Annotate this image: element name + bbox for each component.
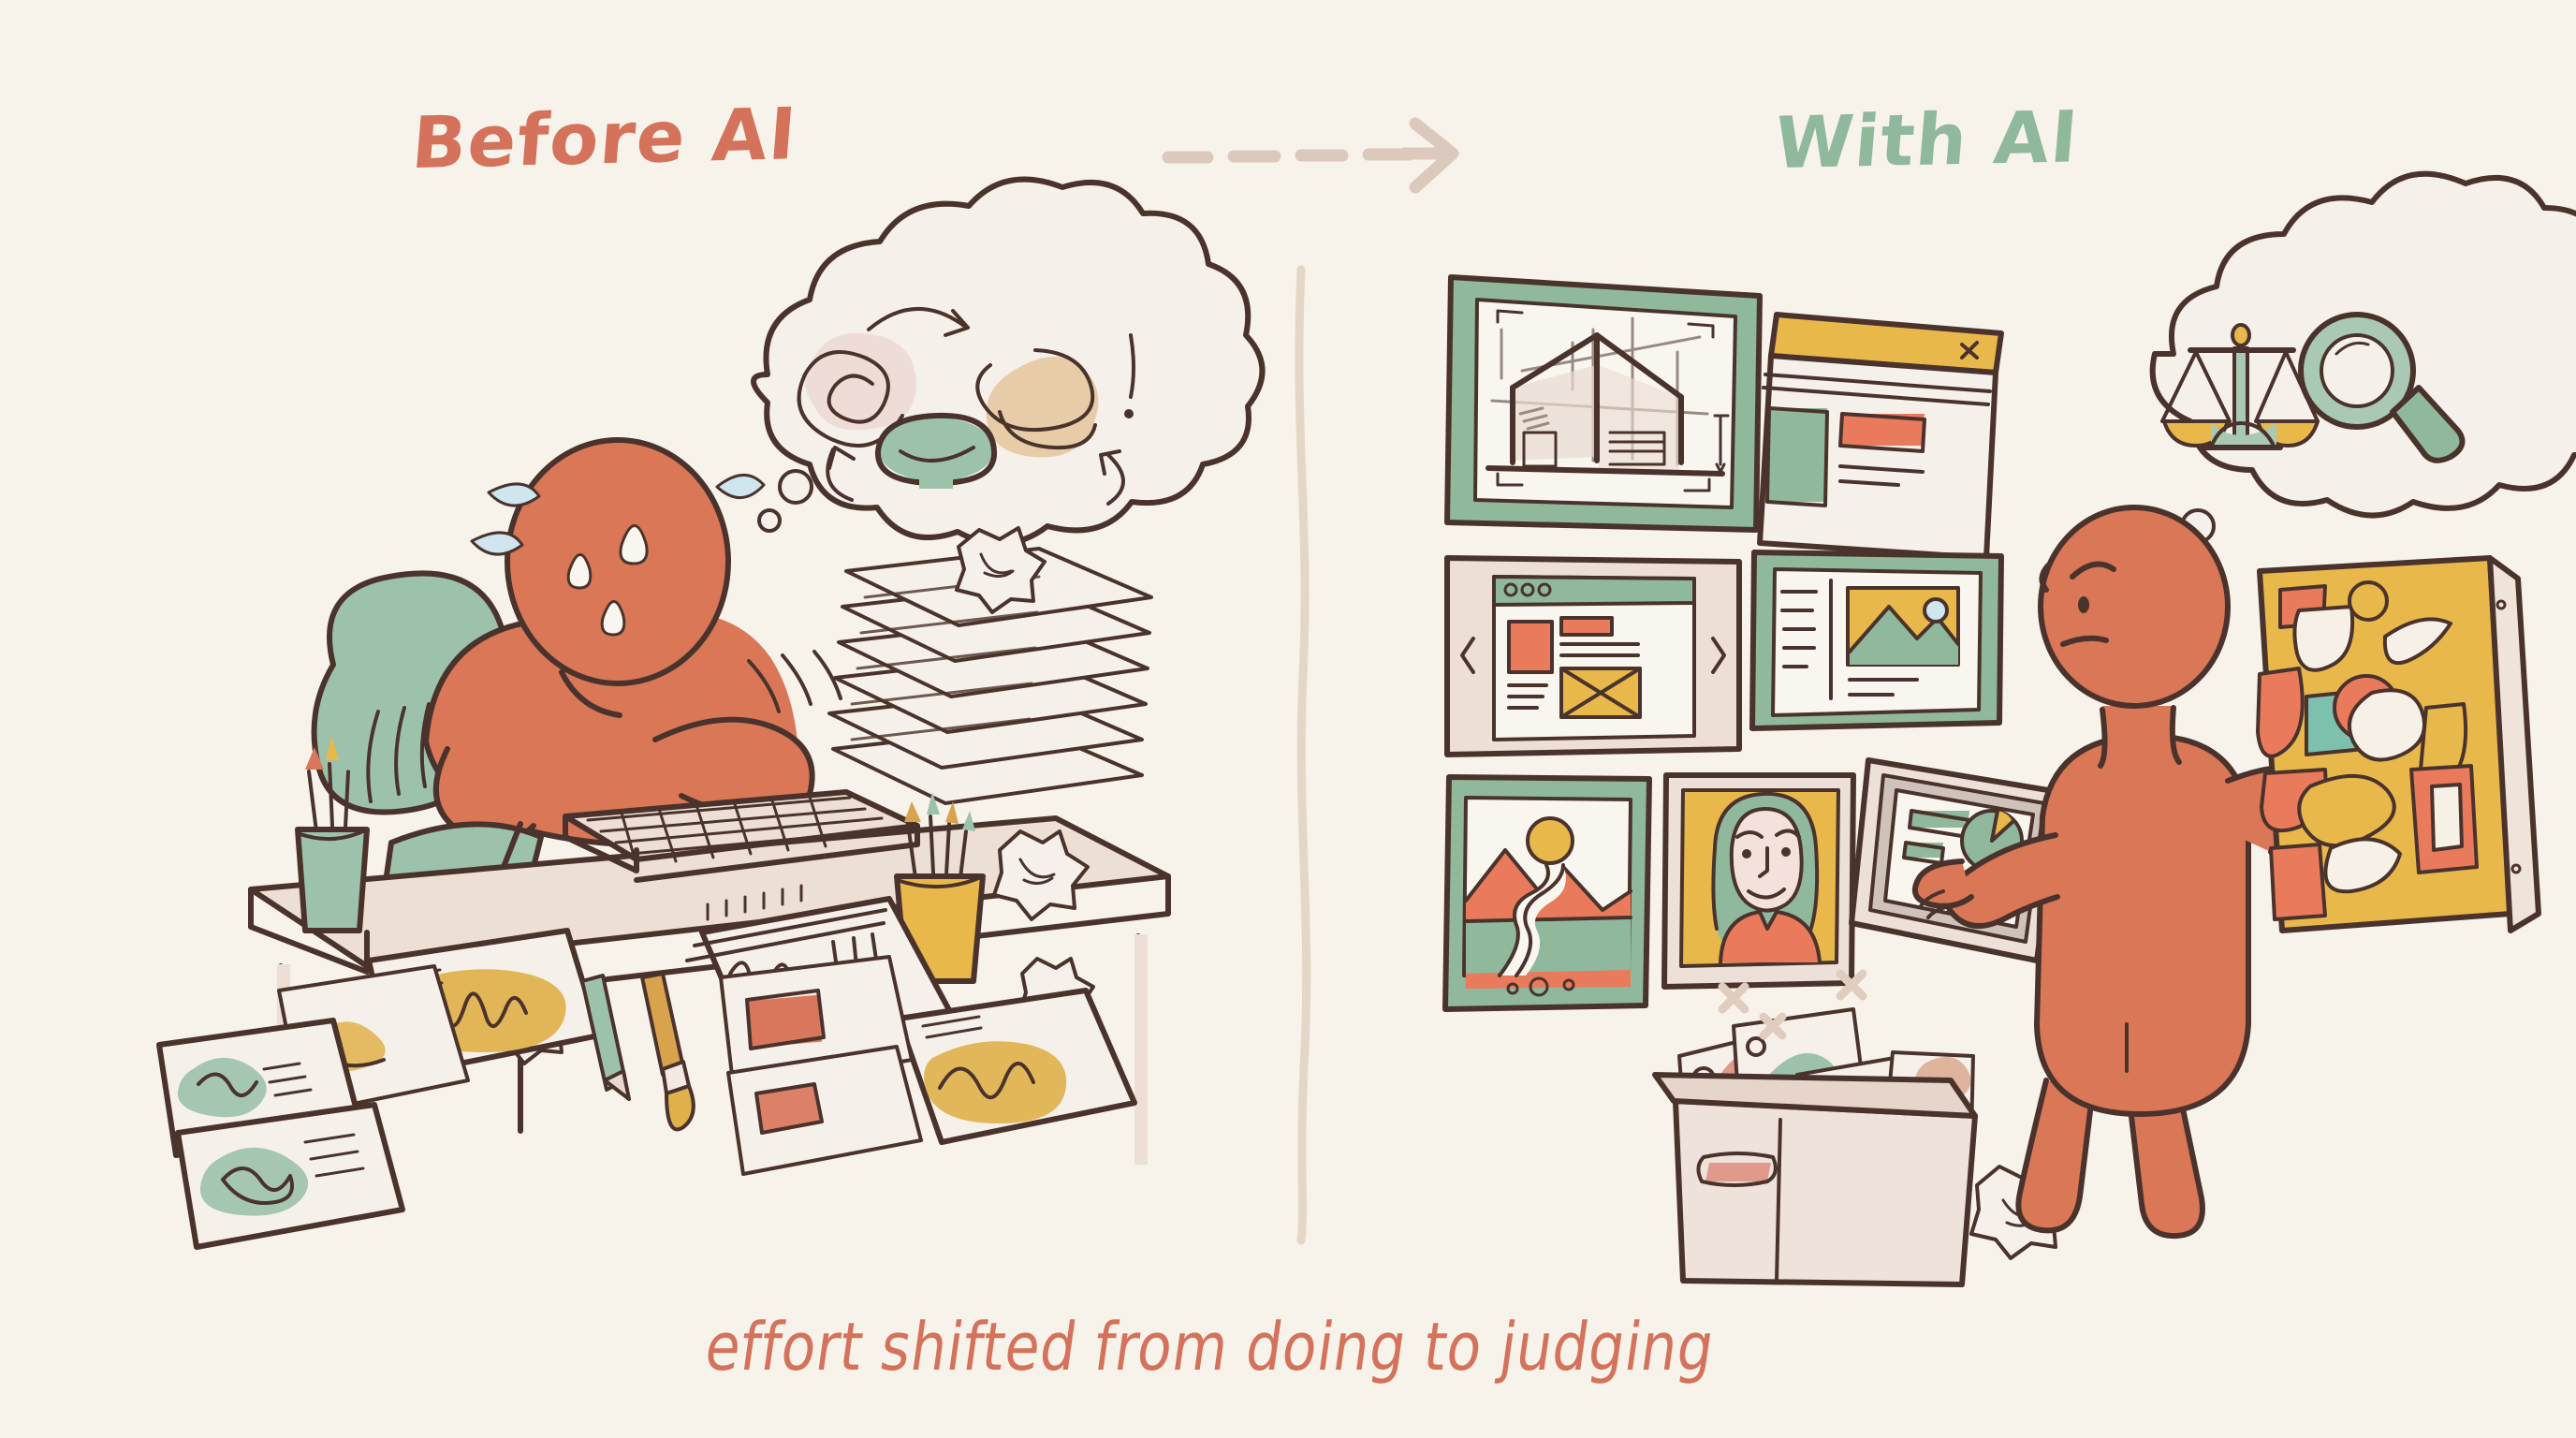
selected-artwork-canvas — [2258, 558, 2539, 931]
panel-yellow-titlebar-window[interactable] — [1760, 315, 2001, 558]
scene-artwork: .ink{stroke:#4a332c;stroke-width:6;fill:… — [0, 0, 2576, 1438]
panel-architecture-sketch[interactable] — [1447, 277, 1760, 530]
title-with-ai: With AI — [1772, 95, 2083, 184]
title-before-ai: Before AI — [409, 92, 800, 184]
caption-text: effort shifted from doing to judging — [700, 1309, 1719, 1387]
panel-portrait-photo[interactable] — [1664, 775, 1853, 987]
panel-browser-wireframe[interactable] — [1447, 558, 1739, 755]
panel-article-layout[interactable] — [1752, 552, 2001, 728]
illustration-canvas: .ink{stroke:#4a332c;stroke-width:6;fill:… — [0, 0, 2576, 1438]
panel-landscape-photo[interactable] — [1445, 777, 1649, 1009]
